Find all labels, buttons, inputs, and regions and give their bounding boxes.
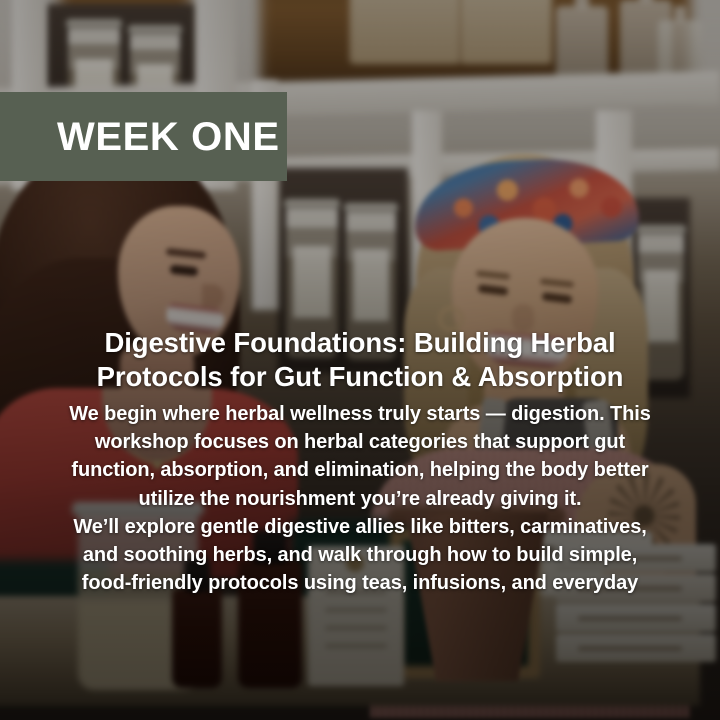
session-paragraph-1: We begin where herbal wellness truly sta… (62, 400, 658, 513)
workshop-promo-card: APOTHECARY (0, 0, 720, 720)
session-title: Digestive Foundations: Building Herbal P… (62, 326, 658, 393)
week-badge-label: WEEK ONE (57, 117, 280, 157)
week-badge: WEEK ONE (0, 92, 287, 181)
session-text-block: Digestive Foundations: Building Herbal P… (62, 326, 658, 597)
session-paragraph-2: We’ll explore gentle digestive allies li… (62, 513, 658, 598)
